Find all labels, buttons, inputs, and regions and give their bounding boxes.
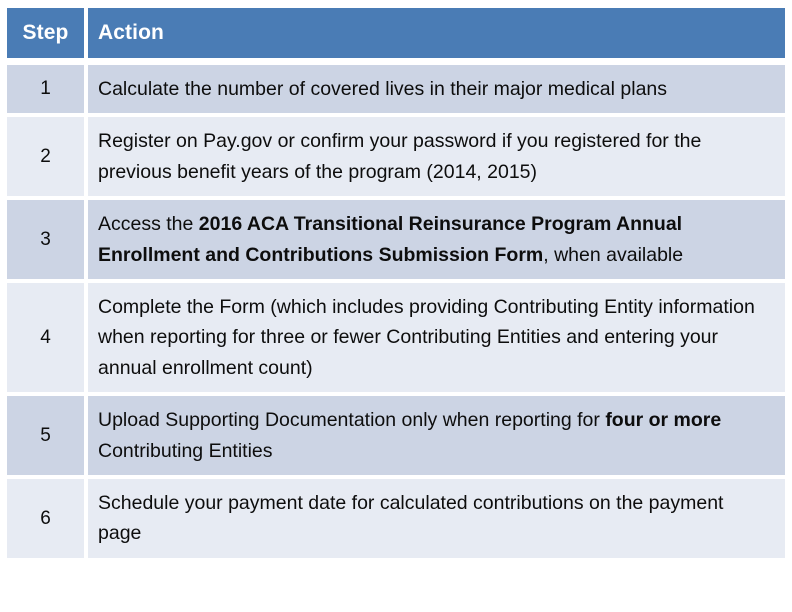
action-text-segment: Complete the Form (which includes provid… [98,296,755,379]
action-text: Calculate the number of covered lives in… [98,74,771,104]
action-text-segment: Calculate the number of covered lives in… [98,78,667,100]
action-text-emphasis: four or more [605,409,721,431]
action-text: Schedule your payment date for calculate… [98,488,771,549]
column-header-step: Step [7,8,88,65]
action-text-segment: , when available [543,244,683,266]
action-text-segment: Access the [98,213,199,235]
column-header-action: Action [88,8,785,65]
steps-table-container: Step Action 1Calculate the number of cov… [0,0,792,612]
cell-action-text: Complete the Form (which includes provid… [88,283,785,396]
cell-action-text: Calculate the number of covered lives in… [88,65,785,117]
table-row: 6Schedule your payment date for calculat… [7,479,785,558]
action-text-segment: Schedule your payment date for calculate… [98,492,723,544]
header-row: Step Action [7,8,785,65]
action-text: Access the 2016 ACA Transitional Reinsur… [98,209,771,270]
table-row: 5Upload Supporting Documentation only wh… [7,396,785,479]
cell-action-text: Schedule your payment date for calculate… [88,479,785,558]
table-row: 1Calculate the number of covered lives i… [7,65,785,117]
cell-step-number: 5 [7,396,88,479]
cell-action-text: Upload Supporting Documentation only whe… [88,396,785,479]
steps-table: Step Action 1Calculate the number of cov… [7,8,785,558]
action-text-segment: Upload Supporting Documentation only whe… [98,409,605,431]
table-row: 4Complete the Form (which includes provi… [7,283,785,396]
cell-action-text: Register on Pay.gov or confirm your pass… [88,117,785,200]
cell-step-number: 4 [7,283,88,396]
table-header: Step Action [7,8,785,65]
action-text: Register on Pay.gov or confirm your pass… [98,126,771,187]
action-text-segment: Contributing Entities [98,440,273,462]
action-text: Complete the Form (which includes provid… [98,292,771,383]
cell-step-number: 2 [7,117,88,200]
cell-step-number: 6 [7,479,88,558]
table-row: 3Access the 2016 ACA Transitional Reinsu… [7,200,785,283]
cell-step-number: 1 [7,65,88,117]
table-body: 1Calculate the number of covered lives i… [7,65,785,558]
table-row: 2Register on Pay.gov or confirm your pas… [7,117,785,200]
action-text-segment: Register on Pay.gov or confirm your pass… [98,130,701,182]
action-text: Upload Supporting Documentation only whe… [98,405,771,466]
cell-step-number: 3 [7,200,88,283]
cell-action-text: Access the 2016 ACA Transitional Reinsur… [88,200,785,283]
